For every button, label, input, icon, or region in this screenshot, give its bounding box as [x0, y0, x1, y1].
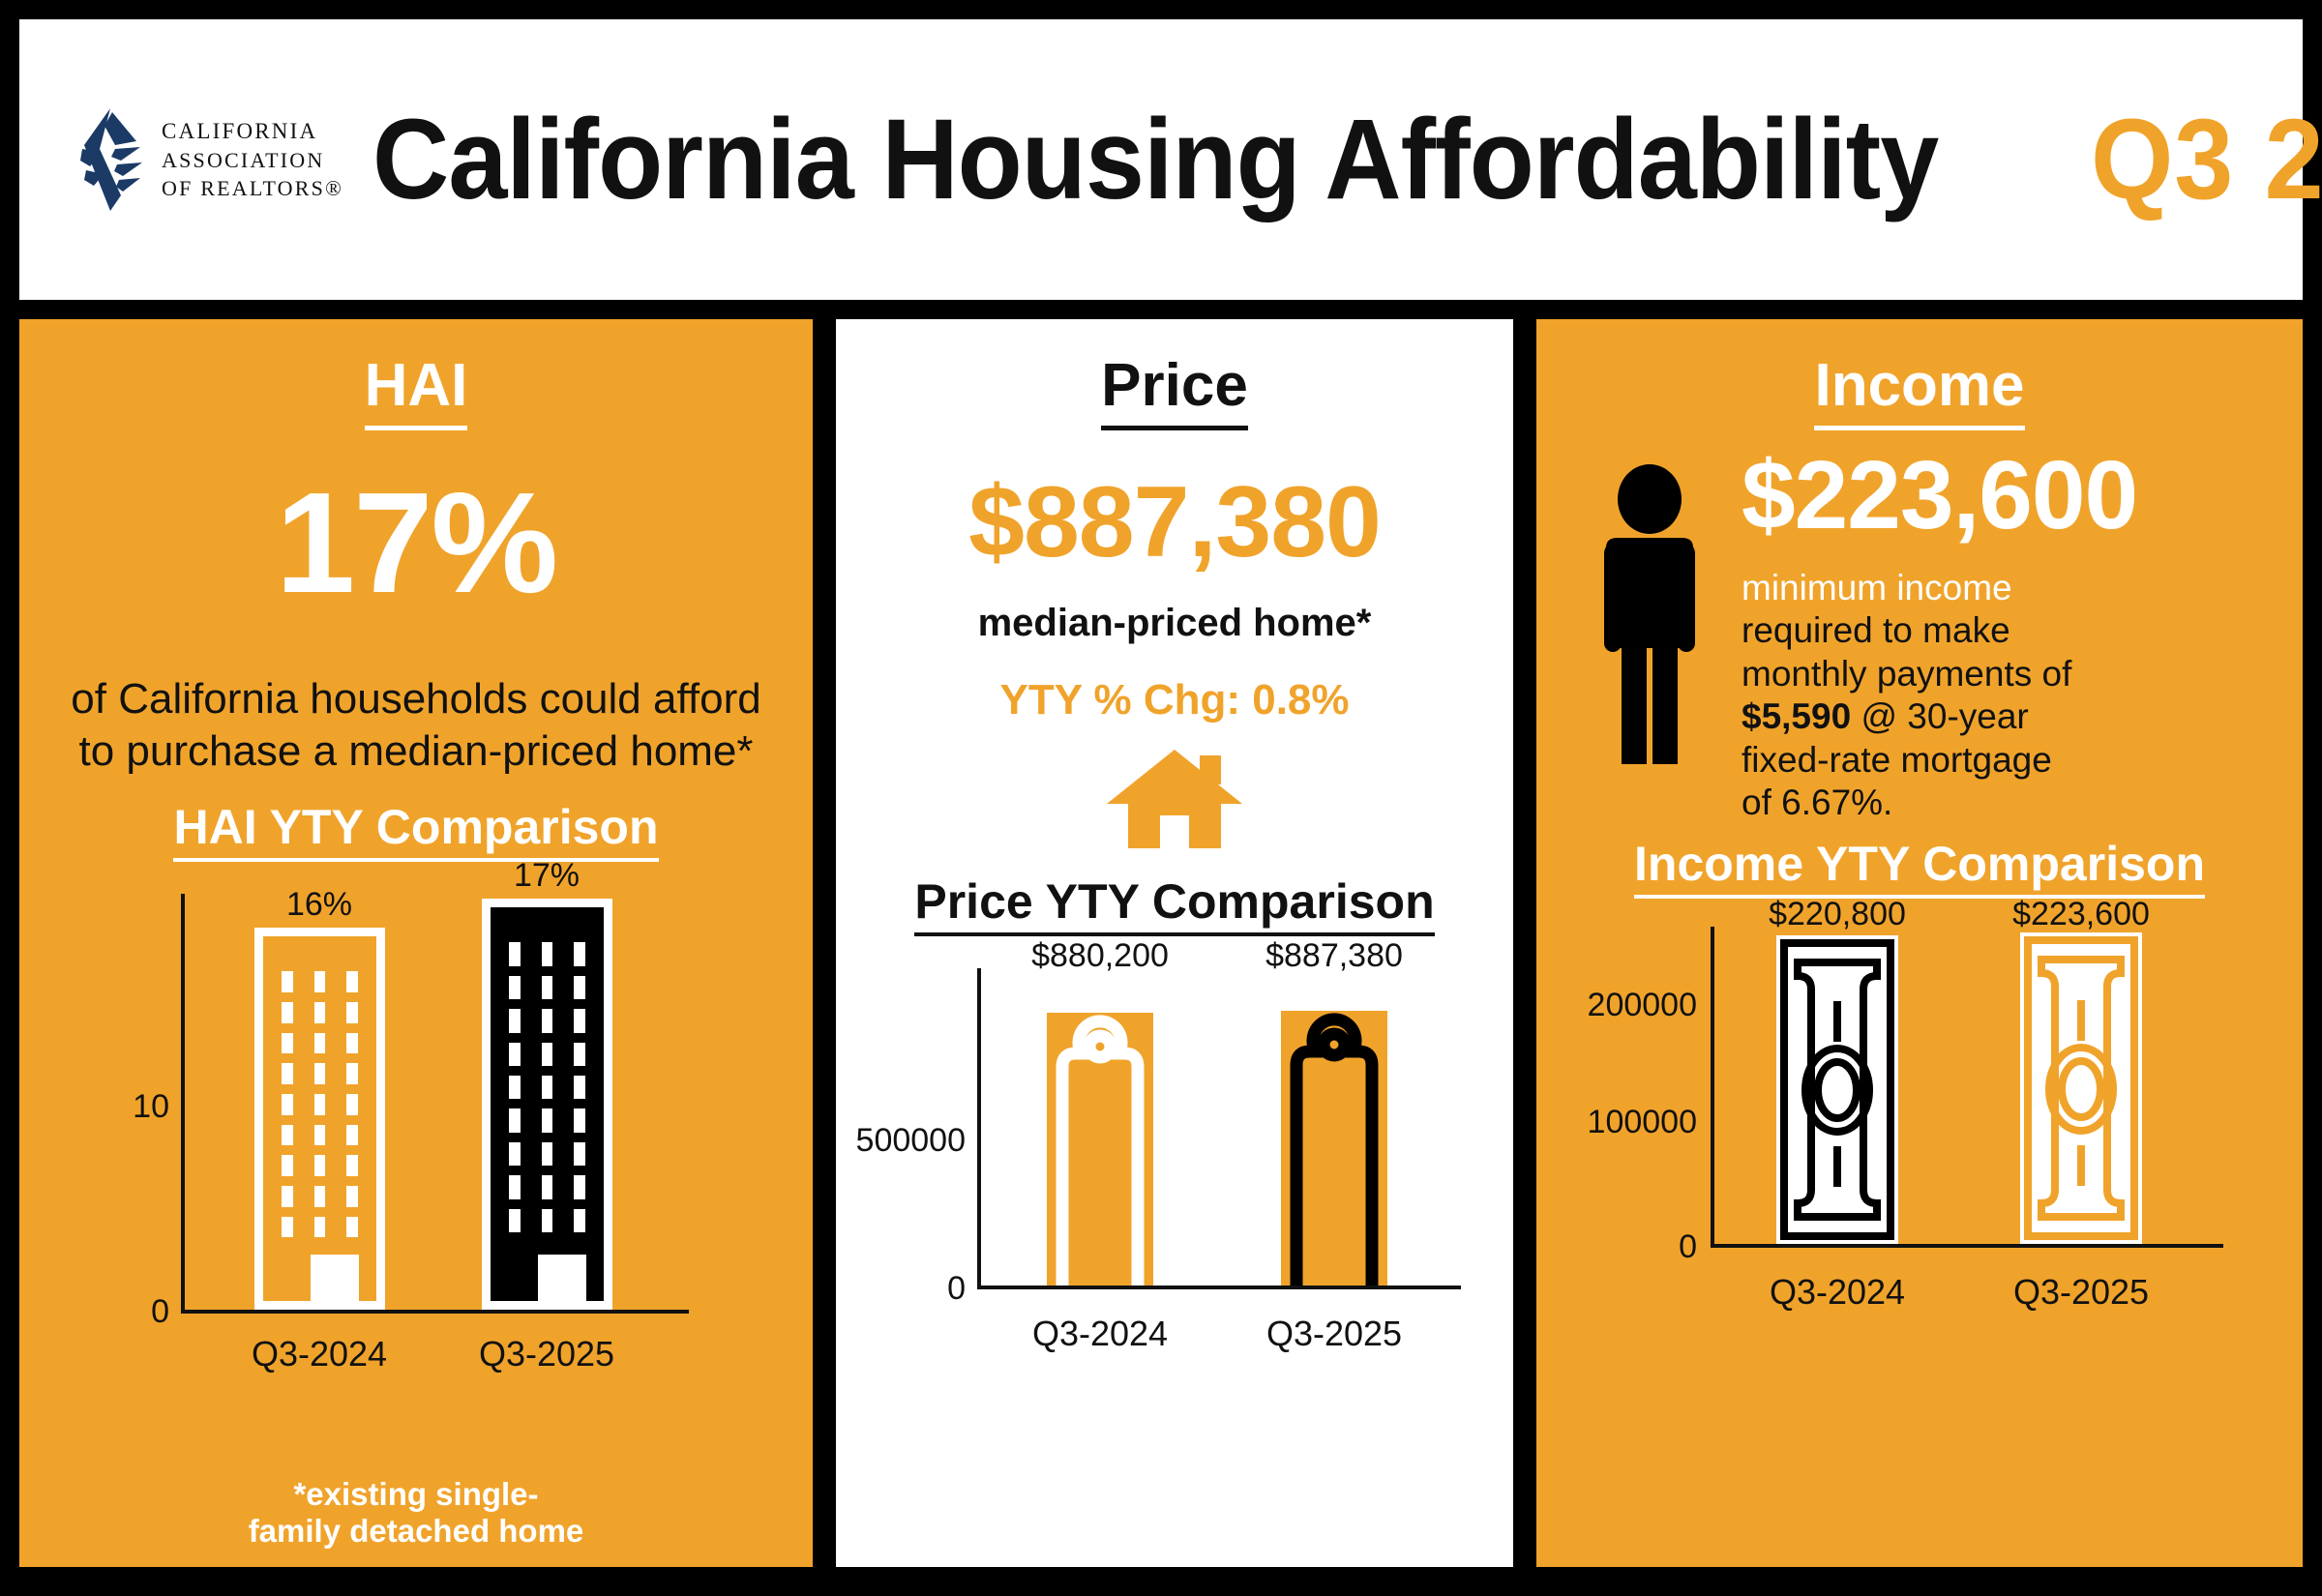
income-desc-line6: of 6.67%. — [1741, 783, 1892, 822]
price-ytick-500000: 500000 — [836, 1124, 966, 1157]
income-bar-value-0: $220,800 — [1726, 898, 1949, 931]
price-cat-label-0: Q3-2024 — [989, 1316, 1211, 1351]
price-ytd-change: YTY % Chg: 0.8% — [836, 676, 1513, 724]
price-tag-icon — [1047, 1013, 1153, 1286]
price-caption: median-priced home* — [836, 602, 1513, 645]
hai-footnote-line1: *existing single- — [19, 1476, 813, 1513]
car-diamond-logo-icon — [73, 106, 148, 213]
income-x-axis — [1711, 1244, 2223, 1248]
income-chart-title: Income YTY Comparison — [1536, 836, 2303, 892]
hai-description: of California households could afford to… — [19, 673, 813, 778]
price-bar-value-0: $880,200 — [989, 939, 1211, 972]
hai-bar-0 — [254, 928, 385, 1310]
price-bar-0 — [1047, 1013, 1153, 1286]
hai-x-axis — [181, 1310, 689, 1314]
building-windows — [509, 942, 585, 1232]
logo-line-3: OF REALTORS® — [162, 174, 343, 202]
car-logo: CALIFORNIA ASSOCIATION OF REALTORS® — [73, 106, 343, 213]
income-desc-line3: monthly payments of — [1741, 654, 2071, 694]
panel-price: Price $887,380 median-priced home* YTY %… — [836, 319, 1513, 1567]
income-cat-label-0: Q3-2024 — [1726, 1275, 1949, 1310]
income-bar-0 — [1776, 935, 1898, 1244]
income-ytick-0: 0 — [1544, 1230, 1697, 1263]
price-bar-1 — [1281, 1011, 1387, 1286]
person-icon — [1587, 464, 1712, 764]
income-ytick-200000: 200000 — [1544, 989, 1697, 1021]
income-headline-value: $223,600 — [1741, 447, 2137, 544]
income-desc-lead: minimum income — [1741, 568, 2012, 607]
price-y-axis — [977, 968, 981, 1289]
income-desc-line2: required to make — [1741, 610, 2010, 650]
hai-bar-value-1: 17% — [450, 859, 643, 892]
hai-headline-value: 17% — [19, 472, 813, 615]
hai-ytick-0: 0 — [77, 1295, 169, 1328]
income-desc-line4-rest: @ 30-year — [1851, 696, 2029, 736]
hai-y-axis — [181, 894, 185, 1314]
price-headline-value: $887,380 — [836, 472, 1513, 573]
hai-ytick-10: 10 — [77, 1090, 169, 1123]
car-logo-text: CALIFORNIA ASSOCIATION OF REALTORS® — [162, 117, 343, 202]
panel-income-title: Income — [1536, 319, 2303, 416]
quarter-badge: Q3 2025 — [2091, 94, 2322, 225]
hai-cat-label-1: Q3-2025 — [450, 1337, 643, 1372]
price-x-axis — [977, 1286, 1461, 1289]
income-y-axis — [1711, 927, 1714, 1248]
price-ytick-0: 0 — [836, 1272, 966, 1305]
price-yty-chart: 500000 0 $880,200 $887,380 Q3-2024 Q3-20… — [836, 947, 1513, 1353]
building-door — [538, 1255, 586, 1301]
banknote-icon — [1776, 935, 1898, 1244]
income-desc-amount: $5,590 — [1741, 696, 1851, 736]
income-desc-line5: fixed-rate mortgage — [1741, 740, 2052, 780]
hai-footnote-line2: family detached home — [19, 1513, 813, 1550]
building-windows — [282, 971, 358, 1237]
logo-line-2: ASSOCIATION — [162, 146, 343, 174]
panel-income: Income $223,600 minimum income required … — [1536, 319, 2303, 1567]
header-title: California Housing Affordability Q3 2025 — [372, 94, 2322, 225]
panel-price-title: Price — [836, 319, 1513, 416]
page-title: California Housing Affordability — [372, 94, 1938, 225]
hai-chart-title: HAI YTY Comparison — [19, 799, 813, 855]
income-yty-chart: 200000 100000 0 $220,800 $223,600 — [1536, 909, 2303, 1296]
income-ytick-100000: 100000 — [1544, 1106, 1697, 1138]
hai-yty-chart: 10 0 16% 17% — [19, 872, 813, 1356]
price-chart-title: Price YTY Comparison — [836, 873, 1513, 930]
hai-bar-1 — [482, 899, 612, 1310]
income-cat-label-1: Q3-2025 — [1970, 1275, 2192, 1310]
banknote-icon — [2020, 932, 2142, 1244]
income-bar-1 — [2020, 932, 2142, 1244]
hai-footnote: *existing single- family detached home — [19, 1476, 813, 1550]
hai-bar-value-0: 16% — [223, 888, 416, 921]
panel-hai-title: HAI — [19, 319, 813, 416]
hai-cat-label-0: Q3-2024 — [223, 1337, 416, 1372]
price-bar-value-1: $887,380 — [1223, 939, 1445, 972]
header-bar: CALIFORNIA ASSOCIATION OF REALTORS® Cali… — [19, 19, 2303, 300]
house-icon — [1107, 750, 1242, 848]
logo-line-1: CALIFORNIA — [162, 117, 343, 146]
income-bar-value-1: $223,600 — [1970, 898, 2192, 931]
panel-hai: HAI 17% of California households could a… — [19, 319, 813, 1567]
building-door — [311, 1255, 359, 1301]
income-description: minimum income required to make monthly … — [1741, 567, 2137, 824]
price-cat-label-1: Q3-2025 — [1223, 1316, 1445, 1351]
price-tag-icon — [1281, 1011, 1387, 1286]
